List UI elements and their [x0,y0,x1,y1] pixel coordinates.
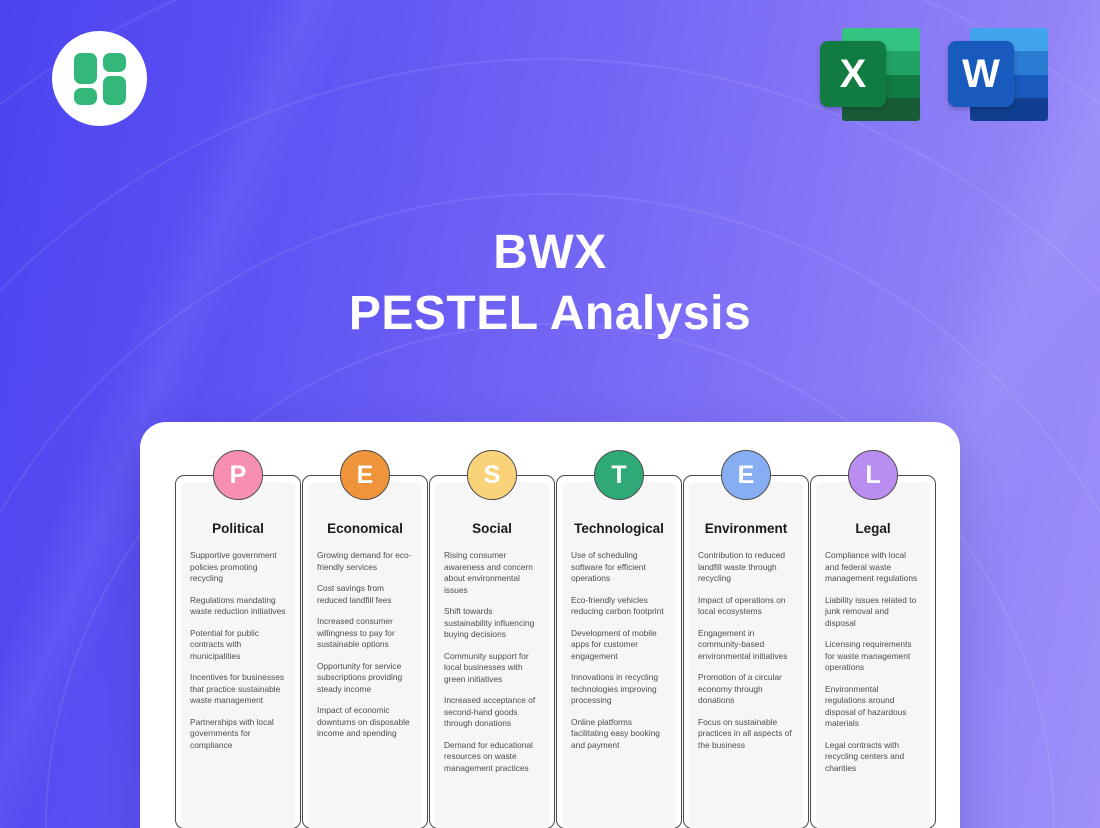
column-item: Innovations in recycling technologies im… [571,672,667,707]
column-letter-badge: E [340,450,390,500]
column-item: Opportunity for service subscriptions pr… [317,661,413,696]
column-item: Online platforms facilitating easy booki… [571,717,667,752]
office-icons-group: X W [820,28,1048,121]
column-item: Cost savings from reduced landfill fees [317,583,413,606]
column-item: Increased consumer willingness to pay fo… [317,616,413,651]
pestel-column-political: PPoliticalSupportive government policies… [175,475,301,828]
column-item: Eco-friendly vehicles reducing carbon fo… [571,595,667,618]
column-frame: LegalCompliance with local and federal w… [810,475,936,828]
column-item: Focus on sustainable practices in all as… [698,717,794,752]
word-tile-letter: W [948,41,1014,107]
column-item-list: Compliance with local and federal waste … [825,550,921,774]
column-item: Community support for local businesses w… [444,651,540,686]
column-heading: Social [444,521,540,536]
column-panel: EnvironmentContribution to reduced landf… [689,482,803,828]
slide-root: X W BWX PESTEL Analysis PPoliticalSuppor… [0,0,1100,828]
column-item: Engagement in community-based environmen… [698,628,794,663]
column-letter-badge: E [721,450,771,500]
excel-tile-letter: X [820,41,886,107]
logo-tile-bottom-right [103,76,126,105]
column-panel: PoliticalSupportive government policies … [181,482,295,828]
title-subject: PESTEL Analysis [0,283,1100,344]
column-item: Contribution to reduced landfill waste t… [698,550,794,585]
column-heading: Economical [317,521,413,536]
column-item: Shift towards sustainability influencing… [444,606,540,641]
column-frame: TechnologicalUse of scheduling software … [556,475,682,828]
column-letter-badge: P [213,450,263,500]
pestel-card: PPoliticalSupportive government policies… [140,422,960,828]
logo-grid-shapes [74,53,126,105]
column-item-list: Supportive government policies promoting… [190,550,286,751]
excel-icon[interactable]: X [820,28,920,121]
column-frame: EnvironmentContribution to reduced landf… [683,475,809,828]
logo-tile-top-right [103,53,126,72]
column-panel: EconomicalGrowing demand for eco-friendl… [308,482,422,828]
column-heading: Political [190,521,286,536]
column-item: Compliance with local and federal waste … [825,550,921,585]
pestel-columns: PPoliticalSupportive government policies… [175,475,925,828]
column-item: Regulations mandating waste reduction in… [190,595,286,618]
column-heading: Technological [571,521,667,536]
pestel-column-economical: EEconomicalGrowing demand for eco-friend… [302,475,428,828]
column-item: Rising consumer awareness and concern ab… [444,550,540,596]
title-company: BWX [0,222,1100,283]
column-item: Supportive government policies promoting… [190,550,286,585]
pestel-column-environment: EEnvironmentContribution to reduced land… [683,475,809,828]
pestel-column-social: SSocialRising consumer awareness and con… [429,475,555,828]
column-item-list: Use of scheduling software for efficient… [571,550,667,751]
pestel-column-technological: TTechnologicalUse of scheduling software… [556,475,682,828]
column-item-list: Contribution to reduced landfill waste t… [698,550,794,751]
logo-tile-top-left [74,53,97,84]
column-letter-badge: S [467,450,517,500]
column-item: Impact of economic downturns on disposab… [317,705,413,740]
column-frame: SocialRising consumer awareness and conc… [429,475,555,828]
column-item: Potential for public contracts with muni… [190,628,286,663]
column-item-list: Rising consumer awareness and concern ab… [444,550,540,774]
column-item: Partnerships with local governments for … [190,717,286,752]
column-panel: LegalCompliance with local and federal w… [816,482,930,828]
column-heading: Environment [698,521,794,536]
column-panel: SocialRising consumer awareness and conc… [435,482,549,828]
column-item: Licensing requirements for waste managem… [825,639,921,674]
pestel-column-legal: LLegalCompliance with local and federal … [810,475,936,828]
column-item: Incentives for businesses that practice … [190,672,286,707]
column-item: Liability issues related to junk removal… [825,595,921,630]
column-item-list: Growing demand for eco-friendly services… [317,550,413,740]
column-item: Demand for educational resources on wast… [444,740,540,775]
column-frame: EconomicalGrowing demand for eco-friendl… [302,475,428,828]
column-item: Use of scheduling software for efficient… [571,550,667,585]
column-item: Legal contracts with recycling centers a… [825,740,921,775]
logo-tile-bottom-left [74,88,97,105]
page-title: BWX PESTEL Analysis [0,222,1100,345]
column-item: Impact of operations on local ecosystems [698,595,794,618]
column-frame: PoliticalSupportive government policies … [175,475,301,828]
column-item: Environmental regulations around disposa… [825,684,921,730]
column-item: Growing demand for eco-friendly services [317,550,413,573]
column-panel: TechnologicalUse of scheduling software … [562,482,676,828]
column-heading: Legal [825,521,921,536]
word-icon[interactable]: W [948,28,1048,121]
column-letter-badge: T [594,450,644,500]
column-item: Promotion of a circular economy through … [698,672,794,707]
column-item: Increased acceptance of second-hand good… [444,695,540,730]
column-item: Development of mobile apps for customer … [571,628,667,663]
grid-logo-icon [52,31,147,126]
column-letter-badge: L [848,450,898,500]
